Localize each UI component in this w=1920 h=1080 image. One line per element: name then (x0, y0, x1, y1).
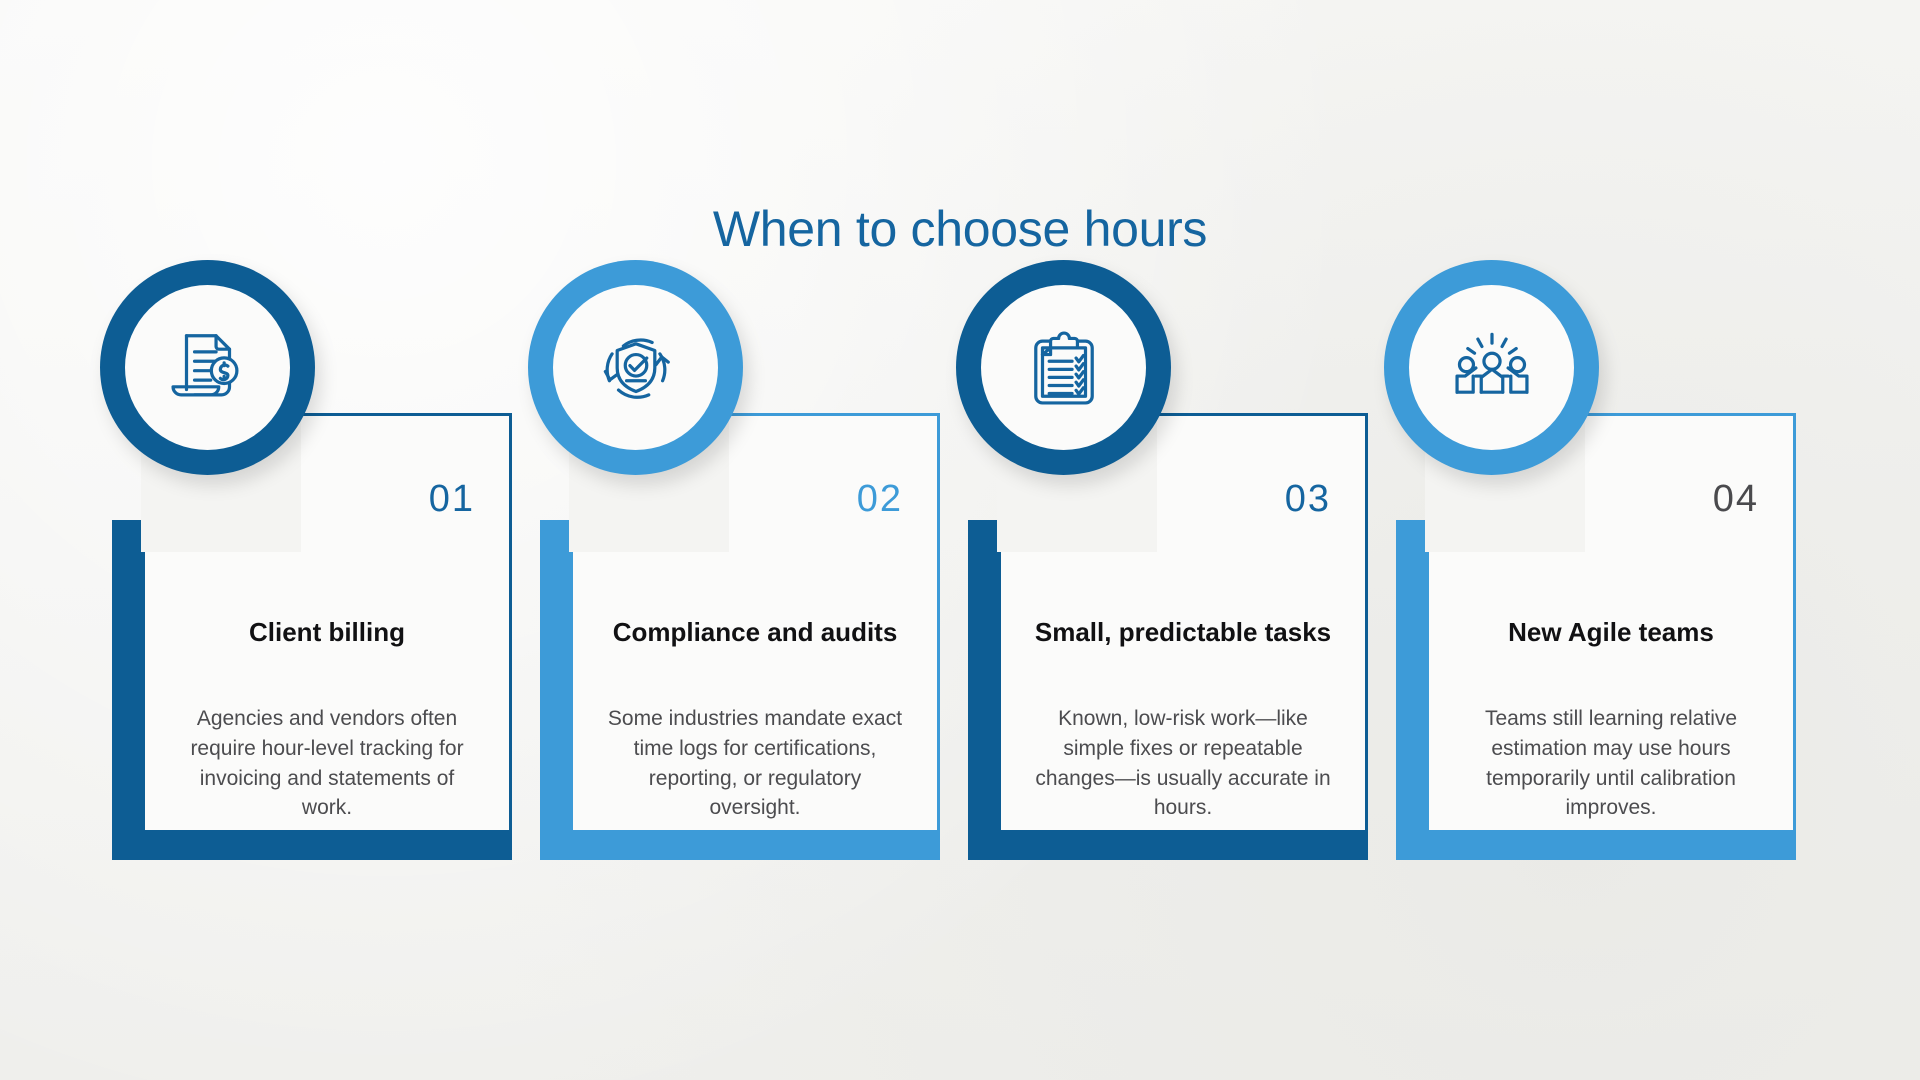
card-body-4: Teams still learning relative estimation… (1459, 704, 1763, 823)
card-icon-circle-1[interactable] (100, 260, 315, 475)
card-title-1: Client billing (173, 616, 481, 649)
info-card-3[interactable]: 03 Small, predictable tasks Known, low-r… (968, 305, 1368, 955)
ring-inner-3 (981, 285, 1146, 450)
clipboard-checklist-icon (1021, 325, 1107, 411)
card-panel-2: 02 Compliance and audits Some industries… (570, 413, 940, 833)
card-panel-4: 04 New Agile teams Teams still learning … (1426, 413, 1796, 833)
ring-inner-2 (553, 285, 718, 450)
card-body-1: Agencies and vendors often require hour-… (175, 704, 479, 823)
card-title-3: Small, predictable tasks (1029, 616, 1337, 649)
cards-container: 01 Client billing Agencies and vendors o… (112, 305, 1812, 955)
card-panel-3: 03 Small, predictable tasks Known, low-r… (998, 413, 1368, 833)
card-icon-circle-3[interactable] (956, 260, 1171, 475)
card-number-1: 01 (145, 478, 475, 521)
ring-inner-4 (1409, 285, 1574, 450)
card-number-3: 03 (1001, 478, 1331, 521)
card-body-2: Some industries mandate exact time logs … (603, 704, 907, 823)
card-body-3: Known, low-risk work—like simple fixes o… (1031, 704, 1335, 823)
card-title-2: Compliance and audits (601, 616, 909, 649)
card-panel-1: 01 Client billing Agencies and vendors o… (142, 413, 512, 833)
page-title: When to choose hours (0, 202, 1920, 257)
invoice-dollar-icon (165, 325, 251, 411)
card-title-4: New Agile teams (1457, 616, 1765, 649)
info-card-4[interactable]: 04 New Agile teams Teams still learning … (1396, 305, 1796, 955)
info-card-1[interactable]: 01 Client billing Agencies and vendors o… (112, 305, 512, 955)
card-icon-circle-4[interactable] (1384, 260, 1599, 475)
card-number-4: 04 (1429, 478, 1759, 521)
card-number-2: 02 (573, 478, 903, 521)
card-icon-circle-2[interactable] (528, 260, 743, 475)
ring-inner-1 (125, 285, 290, 450)
info-card-2[interactable]: 02 Compliance and audits Some industries… (540, 305, 940, 955)
shield-check-refresh-icon (593, 325, 679, 411)
team-celebration-icon (1449, 325, 1535, 411)
